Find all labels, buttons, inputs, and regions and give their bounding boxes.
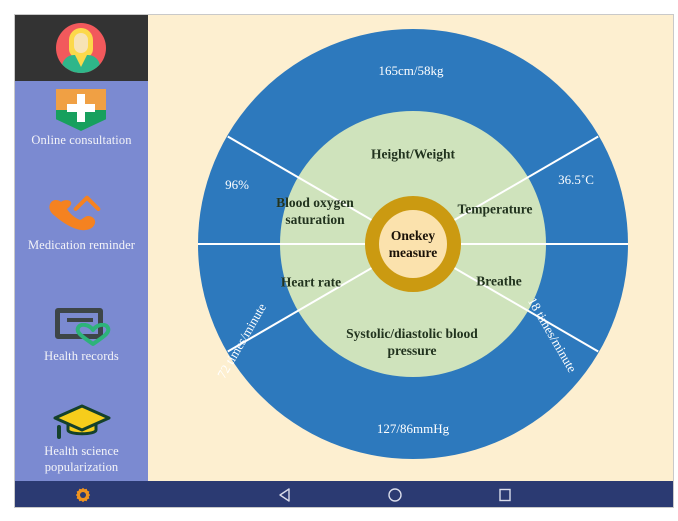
square-icon <box>497 487 513 503</box>
medical-cross-icon <box>15 87 148 133</box>
sidebar-header <box>15 15 148 81</box>
avatar-face <box>74 33 88 53</box>
avatar[interactable] <box>56 23 106 73</box>
settings-gear-button[interactable] <box>63 481 103 508</box>
onekey-measure-wheel: Onekey measure Height/Weight Temperature… <box>148 15 673 481</box>
circle-icon <box>387 487 403 503</box>
sidebar-item-medication-reminder[interactable]: Medication reminder <box>15 192 148 254</box>
tablet-screen: Online consultation Medication reminder <box>14 14 674 508</box>
phone-call-icon <box>15 192 148 238</box>
health-record-icon <box>15 303 148 349</box>
recents-button[interactable] <box>485 481 525 508</box>
hub-center[interactable] <box>379 210 447 278</box>
android-navigation-bar <box>15 481 674 508</box>
phone-call-glyph <box>15 192 148 238</box>
gear-icon <box>74 486 92 504</box>
sidebar-item-label: Medication reminder <box>15 238 148 254</box>
sidebar-item-label: Health records <box>15 349 148 365</box>
sidebar: Online consultation Medication reminder <box>15 15 148 481</box>
heart-icon <box>73 323 113 347</box>
sidebar-item-online-consultation[interactable]: Online consultation <box>15 87 148 149</box>
main-content: Onekey measure Height/Weight Temperature… <box>148 15 673 481</box>
sidebar-item-health-records[interactable]: Health records <box>15 303 148 365</box>
app-screenshot: Online consultation Medication reminder <box>0 0 678 521</box>
sidebar-item-label: Online consultation <box>15 133 148 149</box>
graduation-cap-glyph <box>53 401 111 441</box>
graduation-cap-icon <box>15 398 148 444</box>
medical-cross-bar-v <box>77 94 85 122</box>
record-card-line <box>67 318 93 322</box>
wheel-graphic <box>148 15 673 481</box>
sidebar-item-health-science[interactable]: Health science popularization <box>15 398 148 475</box>
triangle-left-icon <box>277 487 293 503</box>
back-button[interactable] <box>265 481 305 508</box>
home-button[interactable] <box>375 481 415 508</box>
sidebar-item-label: Health science popularization <box>15 444 148 475</box>
